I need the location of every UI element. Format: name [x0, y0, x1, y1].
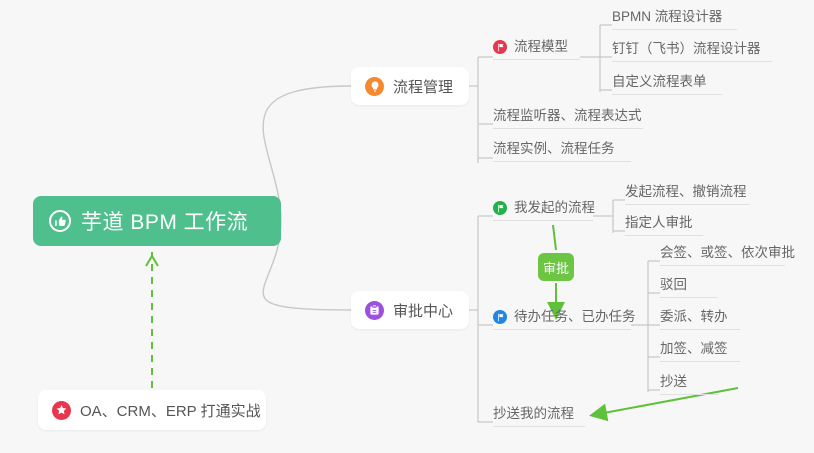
flag-icon [493, 310, 507, 324]
leaf-reject[interactable]: 驳回 [660, 276, 718, 298]
leaf-label: 指定人审批 [625, 214, 693, 231]
leaf-label: 钉钉（飞书）流程设计器 [612, 40, 761, 57]
flag-icon [493, 201, 507, 215]
lightbulb-icon [365, 77, 384, 96]
leaf-start-cancel-process[interactable]: 发起流程、撤销流程 [625, 183, 750, 205]
leaf-label: 抄送 [660, 373, 687, 390]
branch-process-management-label: 流程管理 [393, 76, 453, 97]
leaf-label: 我发起的流程 [514, 199, 595, 216]
thumbs-up-icon [49, 210, 71, 232]
star-icon [52, 401, 71, 420]
leaf-label: BPMN 流程设计器 [612, 8, 722, 25]
leaf-bpmn-designer[interactable]: BPMN 流程设计器 [612, 8, 737, 30]
leaf-label: 委派、转办 [660, 308, 728, 325]
leaf-label: 待办任务、已办任务 [514, 308, 636, 325]
leaf-add-remove-sign[interactable]: 加签、减签 [660, 340, 740, 362]
leaf-dingtalk-feishu-designer[interactable]: 钉钉（飞书）流程设计器 [612, 40, 772, 62]
branch-process-management[interactable]: 流程管理 [351, 67, 469, 105]
leaf-label: 流程模型 [514, 38, 568, 55]
leaf-process-model[interactable]: 流程模型 [493, 38, 580, 60]
root-label: 芋道 BPM 工作流 [81, 206, 248, 236]
leaf-label: 发起流程、撤销流程 [625, 183, 747, 200]
callout-integration-card[interactable]: OA、CRM、ERP 打通实战 [38, 390, 266, 430]
approve-badge: 审批 [538, 253, 574, 281]
leaf-custom-process-form[interactable]: 自定义流程表单 [612, 73, 722, 95]
leaf-label: 自定义流程表单 [612, 73, 707, 90]
leaf-process-instance-task[interactable]: 流程实例、流程任务 [493, 140, 631, 162]
branch-approval-center-label: 审批中心 [393, 300, 453, 321]
flag-icon [493, 40, 507, 54]
leaf-cc[interactable]: 抄送 [660, 373, 718, 395]
leaf-label: 流程监听器、流程表达式 [493, 107, 642, 124]
leaf-label: 流程实例、流程任务 [493, 140, 615, 157]
leaf-countersign-orsign-sequential[interactable]: 会签、或签、依次审批 [660, 244, 785, 266]
branch-approval-center[interactable]: 审批中心 [351, 291, 469, 329]
callout-integration-label: OA、CRM、ERP 打通实战 [80, 400, 261, 421]
leaf-label: 驳回 [660, 276, 687, 293]
mindmap-canvas: 芋道 BPM 工作流 流程管理 审批中心 [0, 0, 814, 453]
leaf-delegate-transfer[interactable]: 委派、转办 [660, 308, 740, 330]
leaf-assignee-approval[interactable]: 指定人审批 [625, 214, 703, 236]
approve-badge-label: 审批 [543, 258, 569, 277]
leaf-label: 抄送我的流程 [493, 405, 574, 422]
leaf-process-listener-expression[interactable]: 流程监听器、流程表达式 [493, 107, 643, 129]
leaf-todo-done-tasks[interactable]: 待办任务、已办任务 [493, 308, 631, 330]
root-node[interactable]: 芋道 BPM 工作流 [33, 196, 281, 246]
leaf-cc-to-me-processes[interactable]: 抄送我的流程 [493, 405, 585, 427]
leaf-label: 会签、或签、依次审批 [660, 244, 795, 261]
leaf-my-initiated-processes[interactable]: 我发起的流程 [493, 199, 593, 221]
leaf-label: 加签、减签 [660, 340, 728, 357]
clipboard-icon [365, 301, 384, 320]
